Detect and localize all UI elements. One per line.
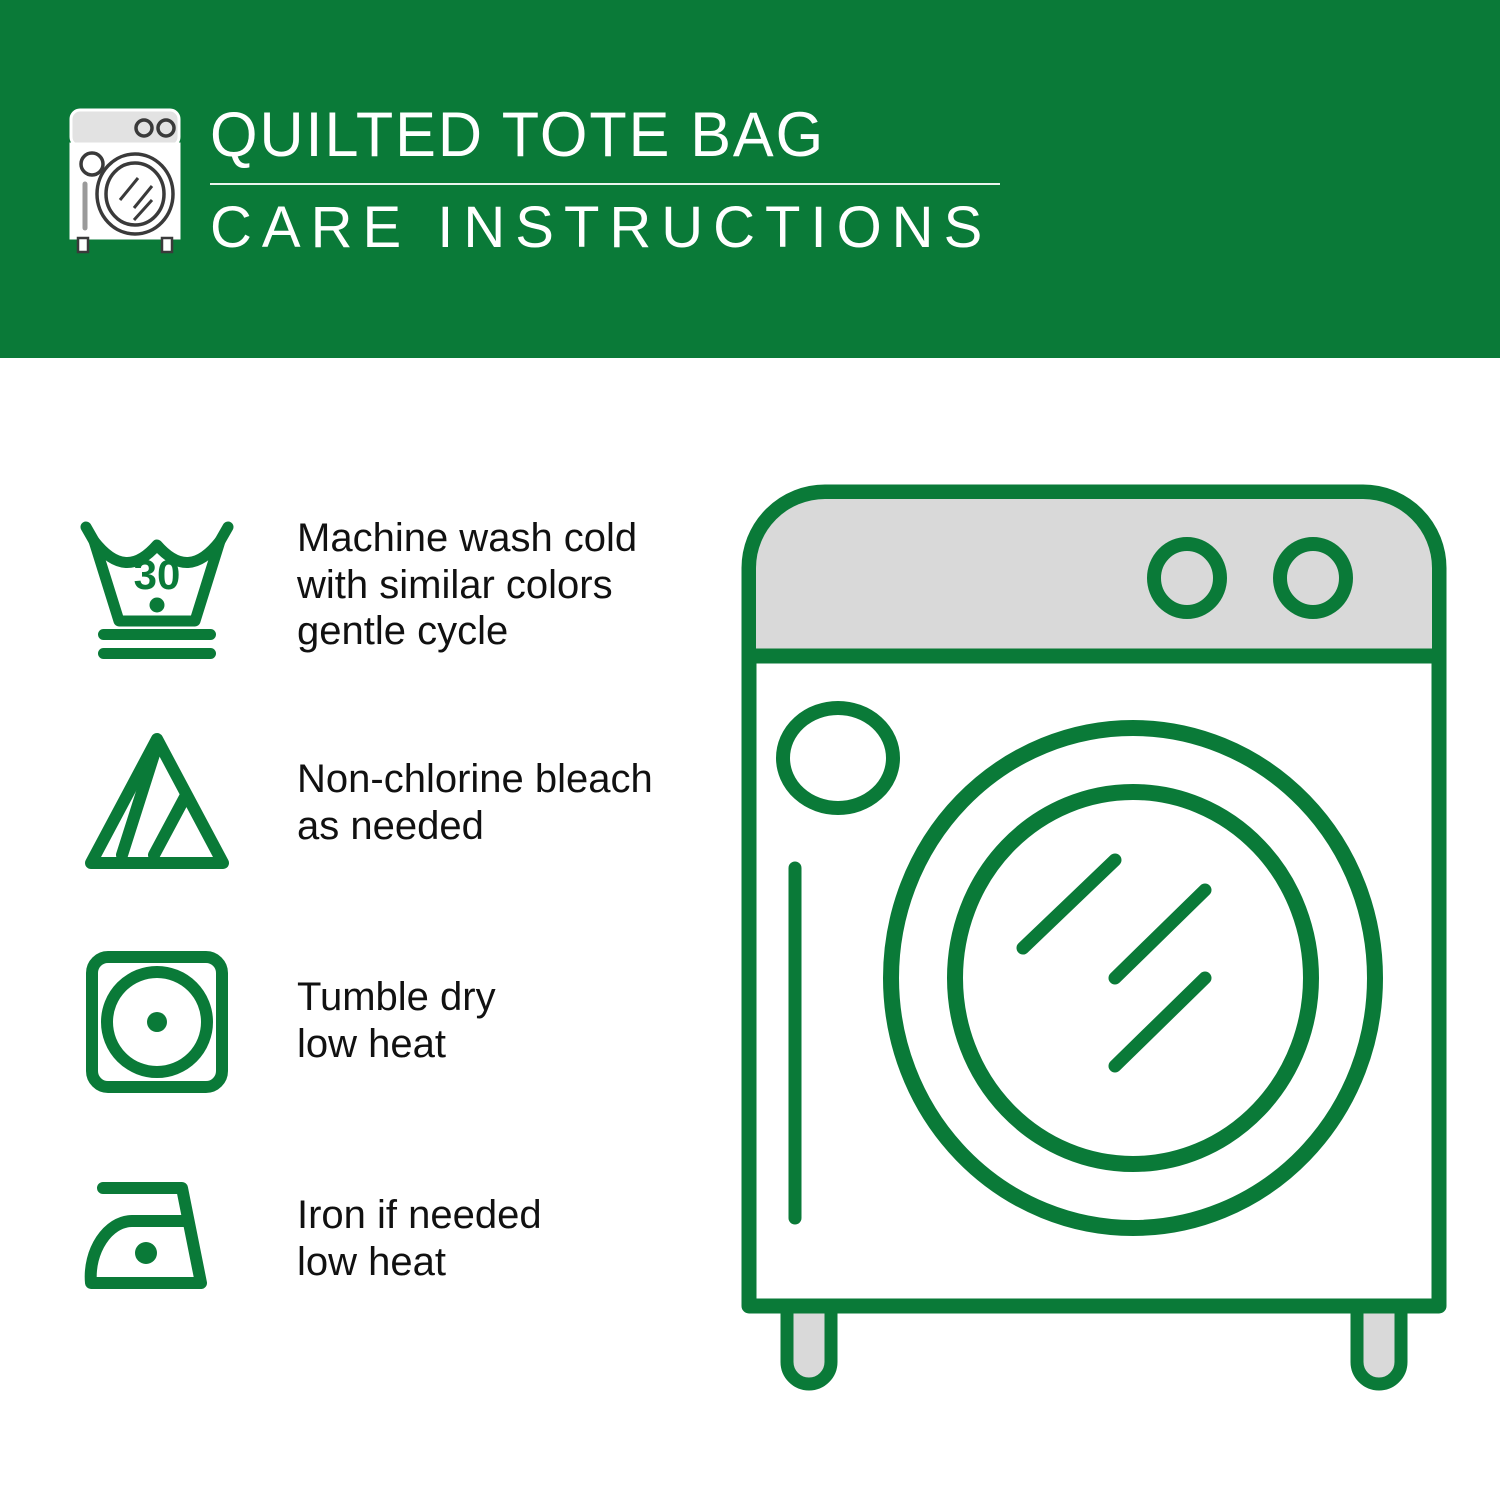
care-row-wash: 30 Machine wash cold with similar colors… (70, 500, 710, 670)
wash-temperature-label: 30 (134, 551, 181, 598)
page-title: QUILTED TOTE BAG (210, 104, 825, 171)
non-chlorine-bleach-triangle-icon (70, 723, 245, 883)
content-area: 30 Machine wash cold with similar colors… (0, 358, 1500, 1500)
tumble-dry-low-icon (70, 941, 245, 1101)
care-text-wash: Machine wash cold with similar colors ge… (297, 515, 637, 655)
header-content: QUILTED TOTE BAG CARE INSTRUCTIONS (62, 104, 1000, 257)
care-text-bleach: Non-chlorine bleach as needed (297, 756, 653, 850)
washing-machine-icon (62, 104, 188, 256)
care-text-tumble-dry: Tumble dry low heat (297, 974, 496, 1068)
title-divider (210, 183, 1000, 185)
washing-machine-illustration (735, 478, 1465, 1438)
care-instruction-list: 30 Machine wash cold with similar colors… (70, 500, 710, 1324)
care-row-tumble-dry: Tumble dry low heat (70, 936, 710, 1106)
header-banner: QUILTED TOTE BAG CARE INSTRUCTIONS (0, 0, 1500, 358)
wash-tub-30-gentle-icon: 30 (70, 505, 245, 665)
care-row-bleach: Non-chlorine bleach as needed (70, 718, 710, 888)
control-panel (756, 499, 1432, 656)
care-row-iron: Iron if needed low heat (70, 1154, 710, 1324)
machine-legs (787, 1302, 1401, 1384)
title-block: QUILTED TOTE BAG CARE INSTRUCTIONS (210, 104, 1000, 257)
page-subtitle: CARE INSTRUCTIONS (210, 199, 992, 257)
iron-low-heat-icon (70, 1159, 245, 1319)
care-text-iron: Iron if needed low heat (297, 1192, 542, 1286)
